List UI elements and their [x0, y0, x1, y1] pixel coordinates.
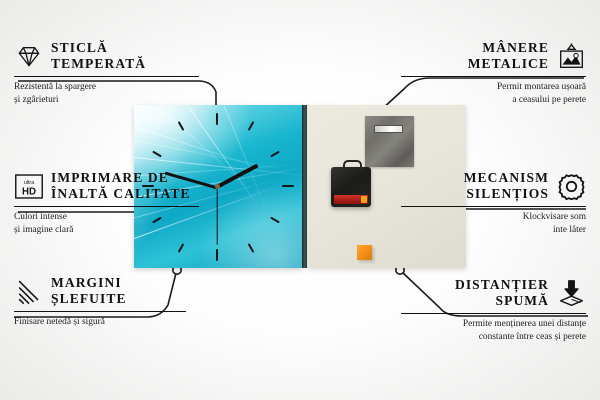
clock-tick [270, 151, 280, 158]
callout-title: DISTANȚIER SPUMĂ [455, 277, 549, 310]
callout-subtitle: Finisare netedă și sigură [14, 316, 214, 328]
hanger-slot [374, 125, 403, 133]
foam-spacer-icon [556, 278, 586, 308]
callout-silent-mechanism: MECANISM SILENȚIOS Klockvisare som inte … [386, 170, 586, 236]
callout-subtitle: Klockvisare som inte låter [386, 211, 586, 236]
callout-title: STICLĂ TEMPERATĂ [51, 40, 146, 73]
clock-tick [178, 243, 185, 253]
metal-hanger-plate [365, 116, 414, 167]
callout-polished-edges: MARGINI ȘLEFUITE Finisare netedă și sigu… [14, 275, 214, 329]
clock-tick [282, 185, 294, 187]
battery-positive-terminal [361, 196, 367, 203]
foam-spacer [357, 245, 372, 260]
callout-rule [14, 206, 199, 207]
ultra-hd-icon: ultra HD [14, 171, 44, 201]
callout-subtitle: Culori intense și imagine clară [14, 211, 214, 236]
callout-title: IMPRIMARE DE ÎNALTĂ CALITATE [51, 170, 191, 203]
svg-text:HD: HD [22, 186, 36, 197]
mechanism-hanging-loop [343, 160, 362, 171]
picture-hanger-icon [556, 41, 586, 71]
callout-tempered-glass: STICLĂ TEMPERATĂ Rezistentă la spargere … [14, 40, 214, 106]
callout-rule [401, 76, 586, 77]
callout-foam-spacer: DISTANȚIER SPUMĂ Permite menținerea unei… [386, 277, 586, 343]
clock-tick [216, 113, 218, 125]
diamond-icon [14, 41, 44, 71]
callout-title: MARGINI ȘLEFUITE [51, 275, 127, 308]
callout-high-quality-print: ultra HD IMPRIMARE DE ÎNALTĂ CALITATE Cu… [14, 170, 214, 236]
callout-subtitle: Rezistentă la spargere și zgârieturi [14, 81, 214, 106]
callout-metal-handles: MÂNERE METALICE Permit montarea ușoară a… [386, 40, 586, 106]
callout-title: MECANISM SILENȚIOS [464, 170, 549, 203]
gear-icon [556, 171, 586, 201]
clock-tick [216, 249, 218, 261]
callout-rule [14, 76, 199, 77]
callout-rule [401, 313, 586, 314]
aa-battery [334, 195, 368, 204]
infographic-canvas: STICLĂ TEMPERATĂ Rezistentă la spargere … [0, 0, 600, 400]
clock-mechanism [331, 167, 371, 207]
clock-center-hub [215, 184, 220, 189]
callout-subtitle: Permit montarea ușoară a ceasului pe per… [386, 81, 586, 106]
polished-edges-icon [14, 276, 44, 306]
svg-text:ultra: ultra [24, 180, 34, 186]
callout-rule [14, 311, 186, 312]
callout-rule [401, 206, 586, 207]
callout-title: MÂNERE METALICE [468, 40, 549, 73]
callout-subtitle: Permite menținerea unei distanțe constan… [386, 318, 586, 343]
clock-second-hand [216, 187, 217, 245]
